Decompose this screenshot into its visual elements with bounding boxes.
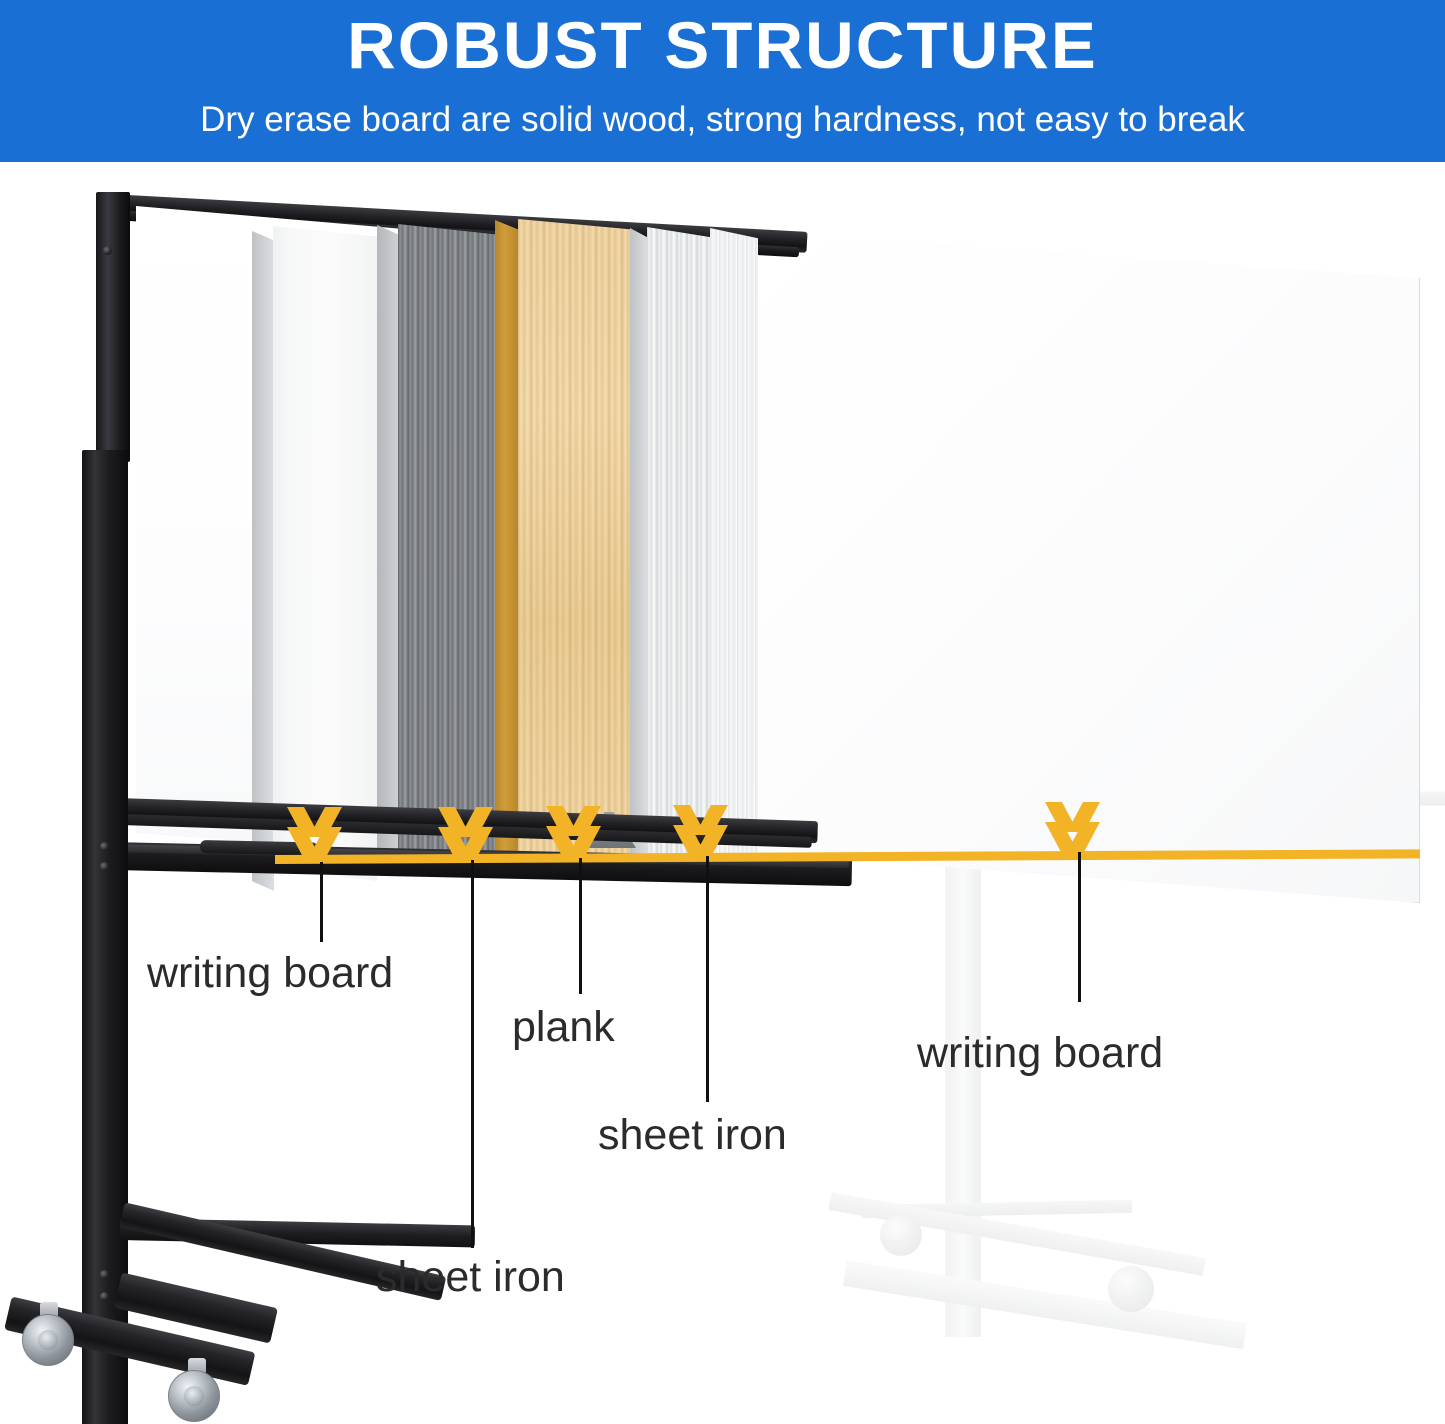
diagram-stage: writing board plank sheet iron sheet iro…	[0, 162, 1445, 1424]
double-chevron-down-icon	[1051, 822, 1107, 852]
frame-upper-post	[96, 192, 130, 462]
layer-sheet-iron-2	[647, 227, 711, 867]
double-chevron-down-icon	[444, 827, 500, 857]
double-chevron-down-icon	[552, 826, 608, 856]
post-screw-top	[103, 246, 112, 255]
product-infographic: ROBUST STRUCTURE Dry erase board are sol…	[0, 0, 1445, 1424]
layer-sheet-iron-2-face	[710, 228, 758, 868]
post-screw-upper-a	[100, 842, 109, 851]
banner-title: ROBUST STRUCTURE	[0, 6, 1445, 84]
callout-label-writing-board-left: writing board	[147, 948, 393, 998]
layer-sheet-iron-1-edge	[377, 225, 399, 877]
chevron-marker-writing-board-left	[293, 807, 349, 869]
double-chevron-down-icon	[293, 827, 349, 857]
caster-right-hub	[184, 1386, 204, 1406]
callout-label-writing-board-right: writing board	[917, 1028, 1163, 1078]
banner-subtitle: Dry erase board are solid wood, strong h…	[0, 98, 1445, 142]
post-screw-upper-b	[100, 862, 109, 871]
post-screw-lower-b	[100, 1292, 109, 1301]
leader-line-writing-board-right	[1078, 852, 1081, 1002]
layer-writing-board-1	[273, 226, 377, 881]
double-chevron-down-icon	[679, 825, 735, 855]
callout-label-sheet-iron-left: sheet iron	[376, 1252, 565, 1302]
layer-sheet-iron-2-edge	[630, 228, 648, 868]
leader-line-plank	[579, 858, 582, 994]
post-screw-lower-a	[100, 1270, 109, 1279]
callout-label-sheet-iron-right: sheet iron	[598, 1110, 787, 1160]
callout-label-plank: plank	[512, 1002, 615, 1052]
ghost-caster-rear	[880, 1214, 922, 1256]
layer-sheet-iron-1	[398, 224, 496, 874]
leader-line-sheet-iron-left	[471, 860, 474, 1248]
header-banner: ROBUST STRUCTURE Dry erase board are sol…	[0, 0, 1445, 162]
ghost-front-foot	[843, 1260, 1247, 1349]
ghost-caster-front	[1108, 1266, 1154, 1312]
layer-plank-edge	[495, 220, 519, 870]
leader-line-sheet-iron-right	[706, 856, 709, 1102]
caster-left-hub	[38, 1330, 58, 1350]
leader-line-writing-board-left	[320, 862, 323, 942]
layer-stack-left-edge	[252, 231, 274, 891]
layer-plank	[518, 219, 631, 869]
